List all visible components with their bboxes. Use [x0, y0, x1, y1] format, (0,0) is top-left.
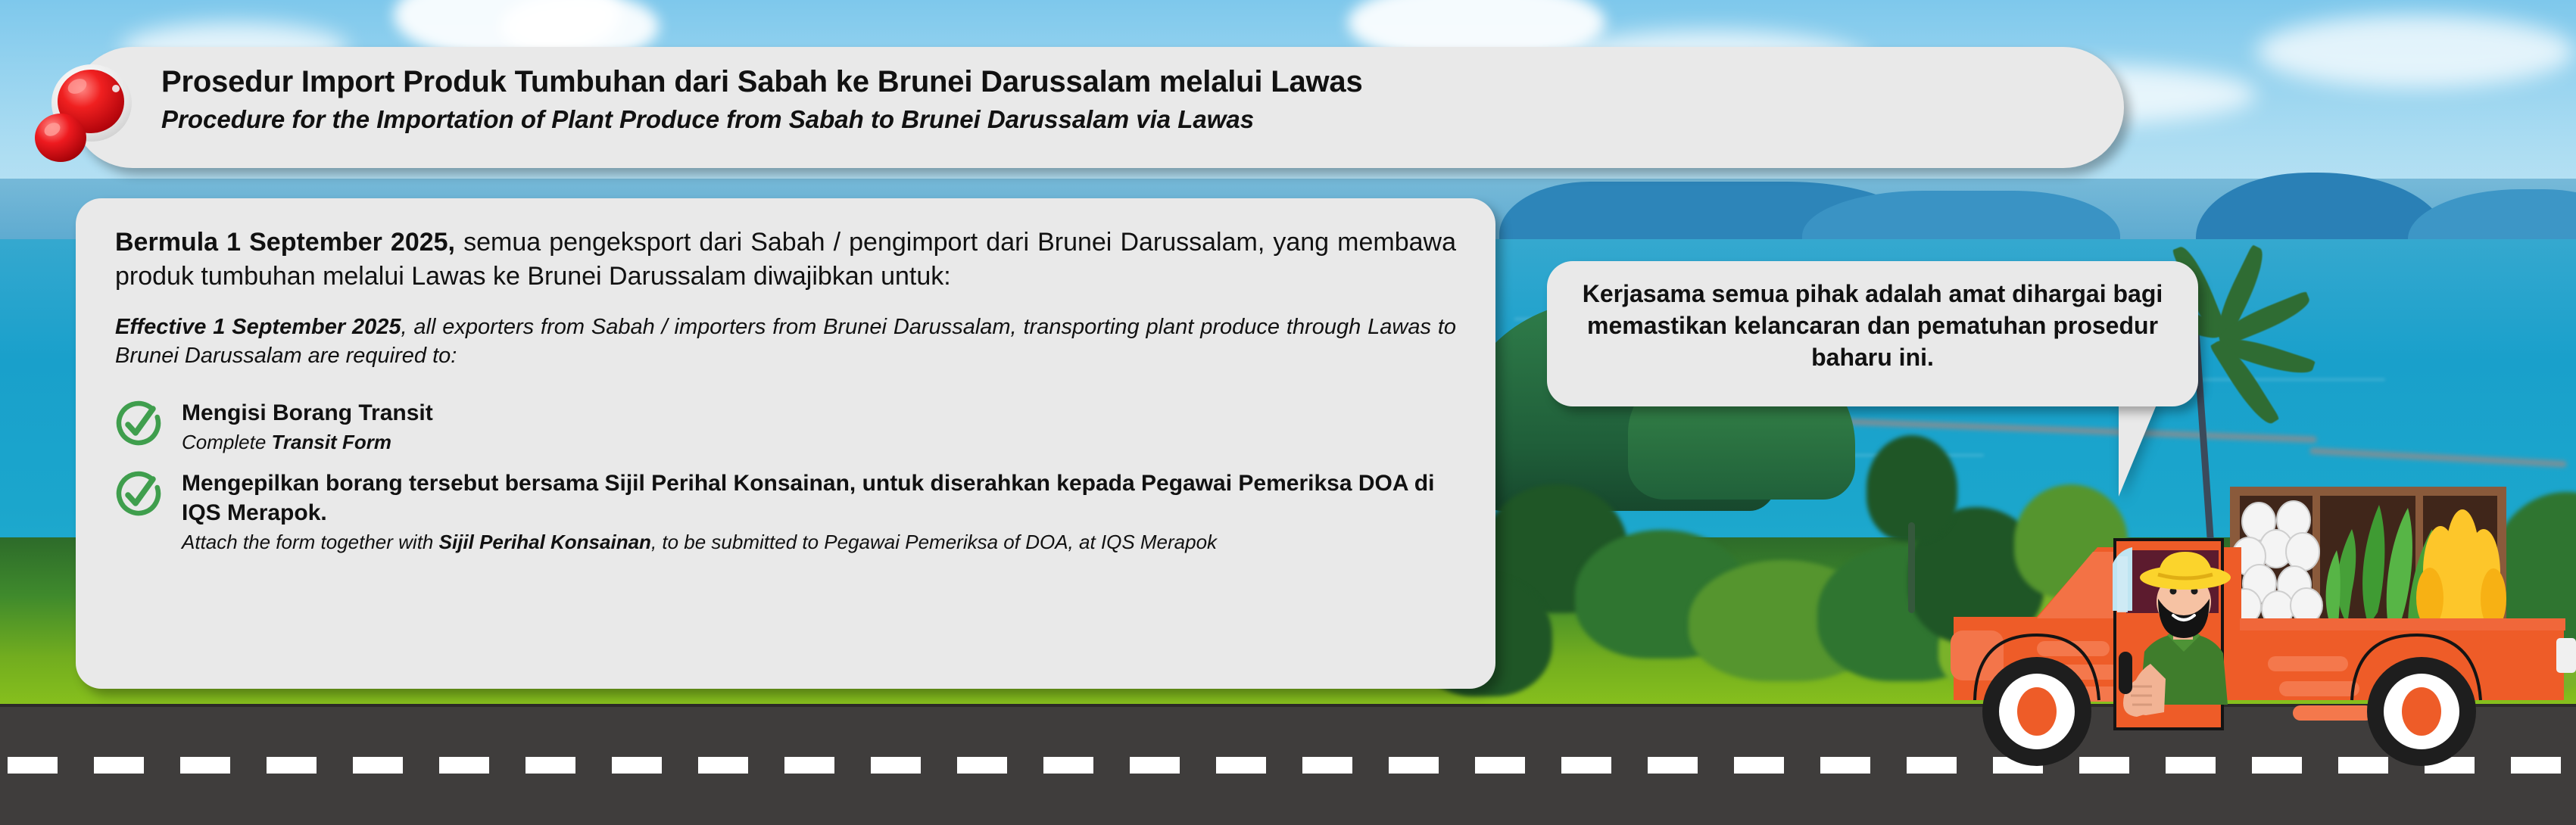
checklist-en-bold: Sijil Perihal Konsainan	[439, 531, 651, 553]
checklist-item: Mengepilkan borang tersebut bersama Siji…	[115, 469, 1456, 555]
road-dash	[1820, 757, 1870, 774]
green-check-circle-icon	[115, 400, 162, 447]
road-dash	[1216, 757, 1266, 774]
road-dash	[439, 757, 489, 774]
checklist-item-body: Mengepilkan borang tersebut bersama Siji…	[182, 469, 1456, 555]
road-dash	[525, 757, 575, 774]
intro-ms-lead: Bermula 1 September 2025,	[115, 228, 455, 257]
speech-bubble-tail	[2119, 401, 2158, 497]
intro-paragraph-ms: Bermula 1 September 2025, semua pengeksp…	[115, 226, 1456, 294]
speech-bubble-text: Kerjasama semua pihak adalah amat diharg…	[1570, 278, 2175, 374]
road-dash	[612, 757, 662, 774]
page-title-en: Procedure for the Importation of Plant P…	[161, 104, 2089, 135]
checklist-en-post: , to be submitted to Pegawai Pemeriksa o…	[651, 531, 1217, 553]
checklist-item-body: Mengisi Borang Transit Complete Transit …	[182, 398, 1456, 455]
cargo-crate	[2229, 487, 2506, 639]
page-title-ms: Prosedur Import Produk Tumbuhan dari Sab…	[161, 64, 2089, 101]
road-dash	[180, 757, 230, 774]
road-dash	[957, 757, 1007, 774]
checklist-en-bold: Transit Form	[272, 431, 391, 453]
road-dash	[1302, 757, 1352, 774]
checklist-item-en: Complete Transit Form	[182, 429, 1456, 455]
road-dash	[1043, 757, 1093, 774]
intro-paragraph-en: Effective 1 September 2025, all exporter…	[115, 313, 1456, 370]
tree-trunk	[1908, 522, 1915, 613]
checklist-en-pre: Complete	[182, 431, 272, 453]
red-pushpin-icon	[21, 53, 157, 167]
road-dash	[1561, 757, 1611, 774]
orange-pickup-truck-icon	[1923, 450, 2576, 783]
speech-bubble: Kerjasama semua pihak adalah amat diharg…	[1547, 261, 2198, 406]
title-card: Prosedur Import Produk Tumbuhan dari Sab…	[72, 47, 2124, 168]
checklist-item-ms: Mengisi Borang Transit	[182, 398, 1456, 428]
truck-wheel	[2367, 657, 2476, 766]
road-dash	[94, 757, 144, 774]
road-dash	[8, 757, 58, 774]
requirements-checklist: Mengisi Borang Transit Complete Transit …	[115, 398, 1456, 556]
green-check-circle-icon	[115, 470, 162, 517]
checklist-en-pre: Attach the form together with	[182, 531, 439, 553]
road-dash	[353, 757, 403, 774]
checklist-item: Mengisi Borang Transit Complete Transit …	[115, 398, 1456, 455]
road-dash	[698, 757, 748, 774]
road-dash	[1475, 757, 1525, 774]
checklist-item-ms: Mengepilkan borang tersebut bersama Siji…	[182, 469, 1456, 528]
checklist-item-en: Attach the form together with Sijil Peri…	[182, 529, 1456, 555]
road-dash	[267, 757, 317, 774]
road-dash	[784, 757, 834, 774]
cloud	[2256, 15, 2574, 88]
road-dash	[1648, 757, 1698, 774]
road-dash	[1734, 757, 1784, 774]
road-dash	[1130, 757, 1180, 774]
road-dash	[1389, 757, 1439, 774]
truck-wheel	[1982, 657, 2091, 766]
main-content-card: Bermula 1 September 2025, semua pengeksp…	[76, 198, 1495, 689]
intro-en-lead: Effective 1 September 2025	[115, 315, 401, 339]
road-dash	[871, 757, 921, 774]
